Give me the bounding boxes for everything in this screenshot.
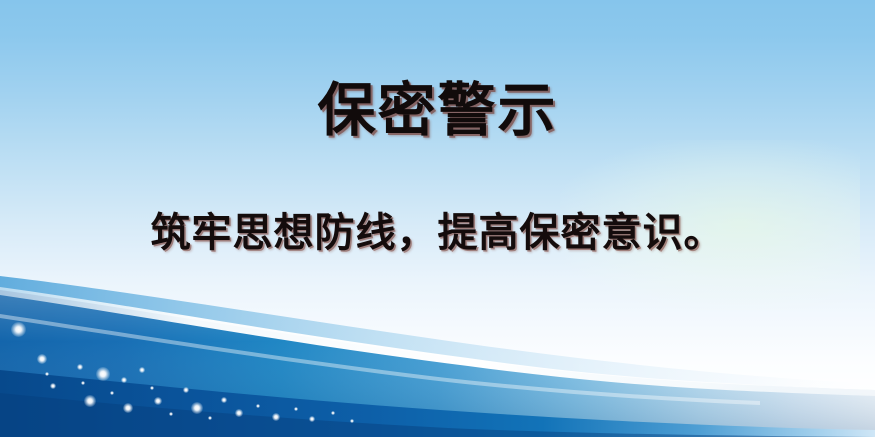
- wave-svg: [0, 262, 875, 437]
- banner-title: 保密警示: [0, 79, 875, 141]
- wave-decoration: [0, 262, 875, 437]
- confidentiality-warning-banner: 保密警示 筑牢思想防线，提高保密意识。: [0, 0, 875, 437]
- banner-subtitle: 筑牢思想防线，提高保密意识。: [0, 210, 875, 256]
